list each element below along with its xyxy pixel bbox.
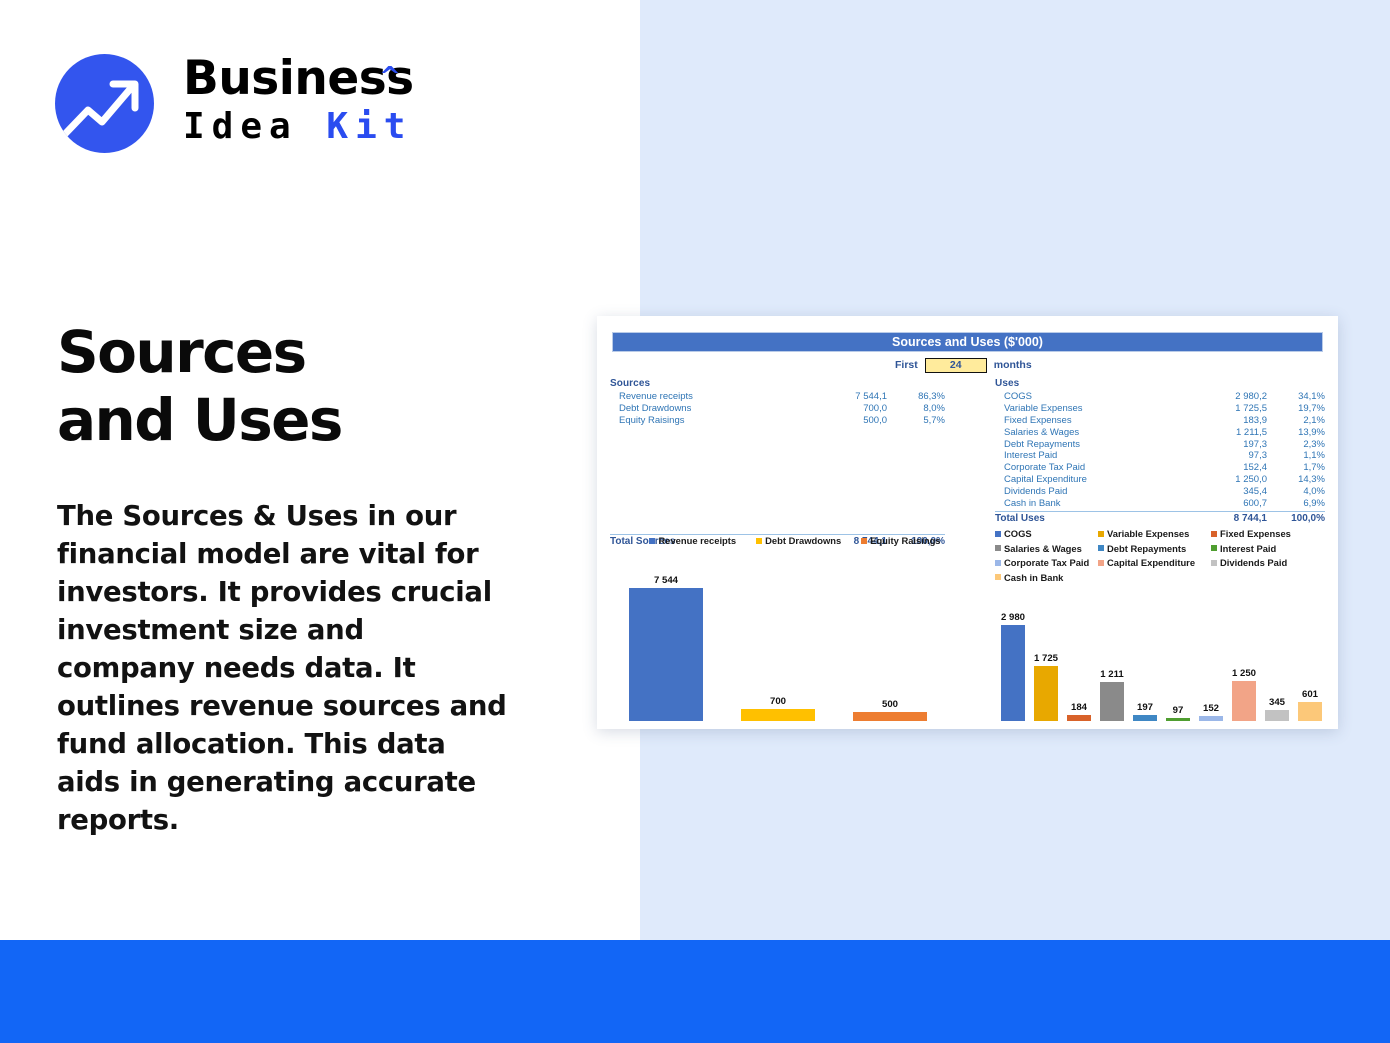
legend-label: COGS <box>1004 528 1032 539</box>
bar <box>1166 718 1190 721</box>
row-label: Dividends Paid <box>995 486 1193 497</box>
legend-swatch-icon <box>995 531 1001 537</box>
bar <box>1298 702 1322 721</box>
row-label: Interest Paid <box>995 450 1193 461</box>
row-label: Cash in Bank <box>995 498 1193 509</box>
legend-item: Cash in Bank <box>995 572 1098 583</box>
brand-logo: Business ^ Idea Kit <box>55 52 455 157</box>
legend-label: Salaries & Wages <box>1004 543 1082 554</box>
row-value: 600,7 <box>1193 498 1267 509</box>
uses-chart-legend: COGSVariable ExpensesFixed ExpensesSalar… <box>995 528 1325 583</box>
sources-header: Sources <box>610 378 945 389</box>
period-prefix-label: First <box>895 359 918 371</box>
table-row: Cash in Bank600,76,9% <box>995 497 1325 509</box>
table-row: Variable Expenses1 725,519,7% <box>995 403 1325 415</box>
row-label: Debt Repayments <box>995 439 1193 450</box>
period-selector: First 24 months <box>895 356 1155 374</box>
row-label: Corporate Tax Paid <box>995 462 1193 473</box>
bar-value-label: 345 <box>1269 697 1285 708</box>
row-percent: 8,0% <box>887 403 945 414</box>
bar-group: 1 725 <box>1034 598 1058 721</box>
uses-table: Uses COGS2 980,234,1%Variable Expenses1 … <box>995 378 1325 525</box>
row-percent: 13,9% <box>1267 427 1325 438</box>
row-percent: 19,7% <box>1267 403 1325 414</box>
sources-table: Sources Revenue receipts7 544,186,3%Debt… <box>610 378 945 548</box>
bar-group: 1 250 <box>1232 598 1256 721</box>
sources-chart-legend: Revenue receiptsDebt DrawdownsEquity Rai… <box>635 535 955 546</box>
row-value: 500,0 <box>813 415 887 426</box>
bar-value-label: 500 <box>882 699 898 710</box>
bar-group: 184 <box>1067 598 1091 721</box>
legend-item: Corporate Tax Paid <box>995 557 1098 568</box>
legend-item: Revenue receipts <box>649 535 736 546</box>
row-label: COGS <box>995 391 1193 402</box>
table-row: Debt Drawdowns700,08,0% <box>610 403 945 415</box>
legend-swatch-icon <box>995 574 1001 580</box>
legend-label: Variable Expenses <box>1107 528 1189 539</box>
bar-value-label: 197 <box>1137 702 1153 713</box>
page-title: Sources and Uses <box>57 318 577 454</box>
bar-group: 601 <box>1298 598 1322 721</box>
bar <box>1001 625 1025 721</box>
bar-value-label: 1 211 <box>1100 669 1123 680</box>
legend-item: Fixed Expenses <box>1211 528 1311 539</box>
bar-group: 152 <box>1199 598 1223 721</box>
bar-group: 197 <box>1133 598 1157 721</box>
bar <box>1199 716 1223 721</box>
row-value: 1 725,5 <box>1193 403 1267 414</box>
spreadsheet-card: Sources and Uses ($'000) First 24 months… <box>597 316 1338 729</box>
row-label: Debt Drawdowns <box>610 403 813 414</box>
bar <box>1133 715 1157 721</box>
row-percent: 1,7% <box>1267 462 1325 473</box>
legend-item: Dividends Paid <box>1211 557 1311 568</box>
legend-item: Debt Repayments <box>1098 543 1211 554</box>
table-row: Fixed Expenses183,92,1% <box>995 415 1325 427</box>
legend-item: Debt Drawdowns <box>756 535 841 546</box>
sources-bar-chart: 7 544700500 <box>621 556 961 721</box>
table-row: Revenue receipts7 544,186,3% <box>610 391 945 403</box>
row-percent: 5,7% <box>887 415 945 426</box>
bar-value-label: 2 980 <box>1001 612 1025 623</box>
bar-value-label: 1 250 <box>1232 668 1256 679</box>
bar <box>1265 710 1289 721</box>
legend-swatch-icon <box>649 538 655 544</box>
row-percent: 6,9% <box>1267 498 1325 509</box>
brand-name-secondary: Idea <box>183 106 298 147</box>
bar <box>1034 666 1058 721</box>
table-row: Dividends Paid345,44,0% <box>995 485 1325 497</box>
bar-value-label: 601 <box>1302 689 1318 700</box>
uses-total-pct: 100,0% <box>1267 513 1325 524</box>
legend-item: COGS <box>995 528 1098 539</box>
row-percent: 1,1% <box>1267 450 1325 461</box>
table-row: Interest Paid97,31,1% <box>995 450 1325 462</box>
table-row: Equity Raisings500,05,7% <box>610 415 945 427</box>
bar-value-label: 97 <box>1173 705 1184 716</box>
table-row: Debt Repayments197,32,3% <box>995 438 1325 450</box>
page-description: The Sources & Uses in our financial mode… <box>57 497 507 839</box>
bar-value-label: 184 <box>1071 702 1087 713</box>
legend-label: Debt Repayments <box>1107 543 1186 554</box>
bar-value-label: 700 <box>770 696 786 707</box>
legend-swatch-icon <box>1211 560 1217 566</box>
bar-group: 2 980 <box>1001 598 1025 721</box>
row-label: Equity Raisings <box>610 415 813 426</box>
legend-swatch-icon <box>1211 531 1217 537</box>
legend-swatch-icon <box>1098 545 1104 551</box>
growth-arrow-icon <box>55 54 154 153</box>
legend-label: Revenue receipts <box>658 535 736 546</box>
uses-header: Uses <box>995 378 1325 389</box>
legend-item: Salaries & Wages <box>995 543 1098 554</box>
row-percent: 2,3% <box>1267 439 1325 450</box>
slide-root: Business ^ Idea Kit Sources and Uses The… <box>0 0 1390 1043</box>
bar-group: 1 211 <box>1100 598 1124 721</box>
row-percent: 2,1% <box>1267 415 1325 426</box>
table-row: COGS2 980,234,1% <box>995 391 1325 403</box>
legend-label: Cash in Bank <box>1004 572 1063 583</box>
row-label: Revenue receipts <box>610 391 813 402</box>
period-suffix-label: months <box>994 359 1032 371</box>
legend-label: Dividends Paid <box>1220 557 1287 568</box>
sheet-title: Sources and Uses ($'000) <box>612 332 1323 352</box>
legend-label: Equity Raisings <box>870 535 940 546</box>
legend-swatch-icon <box>756 538 762 544</box>
bar <box>1232 681 1256 721</box>
legend-label: Debt Drawdowns <box>765 535 841 546</box>
bar-group: 700 <box>741 556 815 721</box>
bar <box>1100 682 1124 721</box>
table-row: Capital Expenditure1 250,014,3% <box>995 474 1325 486</box>
bar <box>629 588 703 721</box>
row-value: 183,9 <box>1193 415 1267 426</box>
uses-bar-chart: 2 9801 7251841 211197971521 250345601 <box>991 598 1329 721</box>
row-percent: 86,3% <box>887 391 945 402</box>
legend-swatch-icon <box>861 538 867 544</box>
bottom-accent-bar <box>0 940 1390 1043</box>
legend-label: Interest Paid <box>1220 543 1276 554</box>
uses-total-value: 8 744,1 <box>1193 513 1267 524</box>
bar <box>741 709 815 721</box>
brand-name-accent: Kit <box>326 106 412 147</box>
row-value: 7 544,1 <box>813 391 887 402</box>
legend-swatch-icon <box>1098 531 1104 537</box>
row-percent: 34,1% <box>1267 391 1325 402</box>
bar-value-label: 1 725 <box>1034 653 1058 664</box>
row-value: 1 211,5 <box>1193 427 1267 438</box>
legend-label: Corporate Tax Paid <box>1004 557 1089 568</box>
row-label: Capital Expenditure <box>995 474 1193 485</box>
legend-swatch-icon <box>1211 545 1217 551</box>
bar-group: 7 544 <box>629 556 703 721</box>
row-label: Salaries & Wages <box>995 427 1193 438</box>
row-value: 152,4 <box>1193 462 1267 473</box>
uses-total-row: Total Uses 8 744,1 100,0% <box>995 511 1325 525</box>
circumflex-accent-icon: ^ <box>379 50 400 104</box>
bar-group: 97 <box>1166 598 1190 721</box>
row-value: 345,4 <box>1193 486 1267 497</box>
legend-swatch-icon <box>995 560 1001 566</box>
row-value: 197,3 <box>1193 439 1267 450</box>
legend-swatch-icon <box>1098 560 1104 566</box>
bar <box>1067 715 1091 721</box>
row-label: Fixed Expenses <box>995 415 1193 426</box>
legend-item: Interest Paid <box>1211 543 1311 554</box>
bar-value-label: 152 <box>1203 703 1219 714</box>
sources-spacer <box>610 426 945 532</box>
legend-swatch-icon <box>995 545 1001 551</box>
bar-value-label: 7 544 <box>654 575 678 586</box>
uses-total-label: Total Uses <box>995 513 1193 524</box>
legend-item: Variable Expenses <box>1098 528 1211 539</box>
legend-item: Equity Raisings <box>861 535 940 546</box>
row-value: 1 250,0 <box>1193 474 1267 485</box>
table-row: Corporate Tax Paid152,41,7% <box>995 462 1325 474</box>
table-row: Salaries & Wages1 211,513,9% <box>995 426 1325 438</box>
legend-item: Capital Expenditure <box>1098 557 1211 568</box>
row-percent: 4,0% <box>1267 486 1325 497</box>
row-value: 700,0 <box>813 403 887 414</box>
legend-label: Fixed Expenses <box>1220 528 1291 539</box>
row-label: Variable Expenses <box>995 403 1193 414</box>
bar <box>853 712 927 721</box>
bar-group: 500 <box>853 556 927 721</box>
months-input-cell[interactable]: 24 <box>925 358 987 373</box>
bar-group: 345 <box>1265 598 1289 721</box>
row-value: 97,3 <box>1193 450 1267 461</box>
row-percent: 14,3% <box>1267 474 1325 485</box>
legend-label: Capital Expenditure <box>1107 557 1195 568</box>
row-value: 2 980,2 <box>1193 391 1267 402</box>
